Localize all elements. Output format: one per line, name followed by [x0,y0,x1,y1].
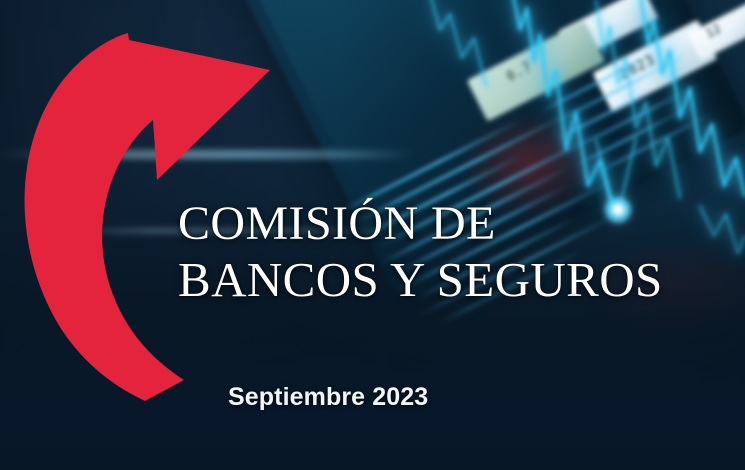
title-line-1: COMISIÓN DE [178,196,738,252]
chip-label: 2023 [616,50,658,83]
card-chip [687,1,745,60]
card-chip [467,21,605,122]
card-chip [558,0,659,62]
page-title: COMISIÓN DE BANCOS Y SEGUROS [178,196,738,308]
chip-label: 12 [704,21,724,40]
card-chip [592,20,717,113]
title-line-2: BANCOS Y SEGUROS [178,252,738,308]
report-cover-slide: 2023 0.7 12 [0,0,745,470]
data-bar-group [538,11,745,222]
subtitle-date: Septiembre 2023 [228,383,428,412]
chip-label: 0.7 [504,59,535,85]
